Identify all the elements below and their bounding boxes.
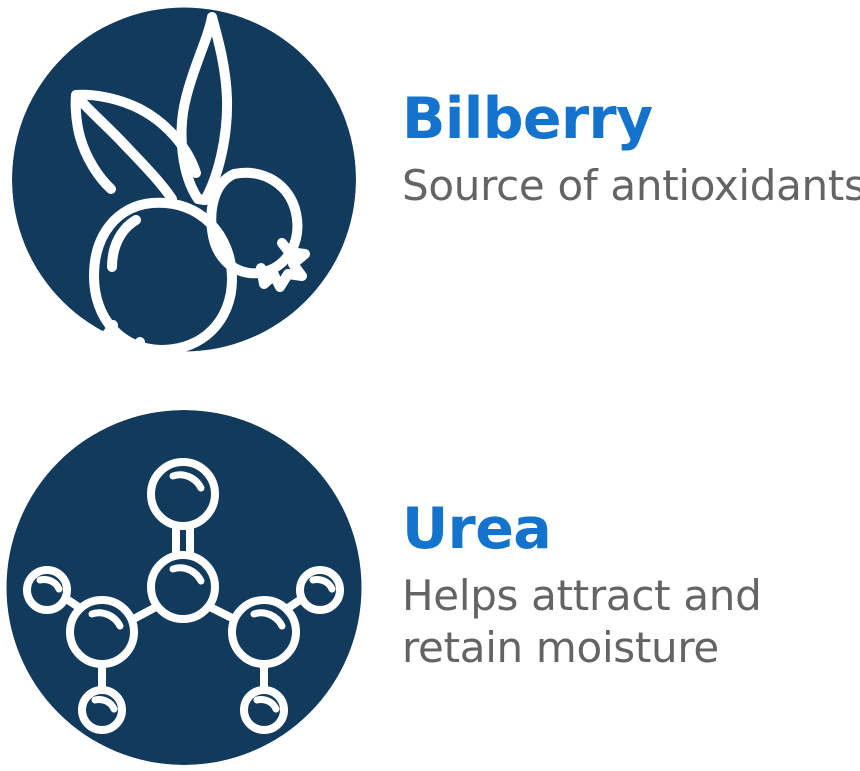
feature-title-bilberry: Bilberry — [402, 86, 860, 152]
feature-subtitle-bilberry: Source of antioxidants — [402, 160, 860, 212]
feature-title-urea: Urea — [402, 496, 802, 562]
urea-text-block: Urea Helps attract and retain moisture — [402, 496, 802, 674]
bilberry-icon-badge — [12, 3, 356, 356]
bilberry-text-block: Bilberry Source of antioxidants — [402, 86, 860, 212]
bilberry-berries-icon — [12, 3, 356, 356]
feature-bilberry: Bilberry Source of antioxidants — [0, 0, 860, 380]
urea-molecule-icon — [6, 410, 362, 765]
urea-icon-badge — [6, 410, 362, 765]
feature-urea: Urea Helps attract and retain moisture — [0, 400, 860, 771]
feature-subtitle-urea: Helps attract and retain moisture — [402, 570, 802, 674]
